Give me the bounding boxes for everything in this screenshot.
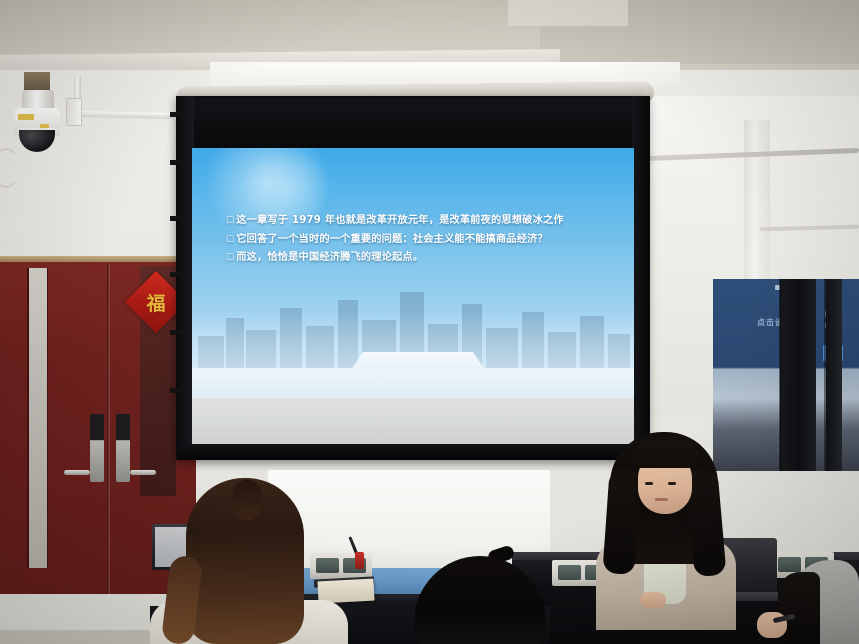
projection-screen-bottom-bar xyxy=(178,444,646,460)
mic-button-pad-a[interactable] xyxy=(316,558,339,573)
wall-junction-box xyxy=(66,98,82,126)
presenter-eye-left xyxy=(645,482,653,485)
camera-label-sticker xyxy=(18,114,34,120)
bullet-square-icon: □ xyxy=(226,231,234,249)
door-lock-left[interactable] xyxy=(90,414,104,482)
projection-screen-top-masking xyxy=(178,99,646,151)
classroom-photo-scene: 福 xyxy=(0,0,859,644)
screen-bracket-5 xyxy=(170,330,186,335)
fu-character: 福 xyxy=(134,280,178,324)
student-left-hair-part xyxy=(232,480,262,520)
slide-bottom-band xyxy=(192,368,634,398)
wall-display-dark-column-2 xyxy=(826,279,842,471)
screen-bracket-4 xyxy=(170,272,186,277)
bullet-square-icon: □ xyxy=(226,249,234,267)
slide-bullet-item: □ 它回答了一个当时的一个重要的问题：社会主义能不能搞商品经济？ xyxy=(226,231,608,249)
wall-display-dark-column xyxy=(780,279,816,471)
slide-bullet-item: □ 而这，恰恰是中国经济腾飞的理论起点。 xyxy=(226,249,608,267)
mic-button-pad-c[interactable] xyxy=(558,565,581,580)
wall-display-seam-2 xyxy=(824,279,826,471)
mic-button-pad-e[interactable] xyxy=(778,557,801,572)
mic-base-left xyxy=(355,552,364,569)
door-seam xyxy=(107,264,110,594)
presenter-mouth xyxy=(655,498,668,501)
presenter-hand xyxy=(640,592,666,608)
projection-screen-surface: □ 这一章写于 1979 年也就是改革开放元年，是改革前夜的思想破冰之作 □ 它… xyxy=(192,148,634,444)
projected-slide: □ 这一章写于 1979 年也就是改革开放元年，是改革前夜的思想破冰之作 □ 它… xyxy=(192,148,634,398)
door-handle-right[interactable] xyxy=(130,470,156,475)
projection-screen-right-masking xyxy=(632,96,650,456)
door-lock-right[interactable] xyxy=(116,414,130,482)
screen-bracket-6 xyxy=(170,388,186,393)
slide-bullet-text: 这一章写于 1979 年也就是改革开放元年，是改革前夜的思想破冰之作 xyxy=(236,212,608,230)
ceiling-notch xyxy=(508,0,628,26)
slide-bullet-list: □ 这一章写于 1979 年也就是改革开放元年，是改革前夜的思想破冰之作 □ 它… xyxy=(226,212,608,268)
slide-podium-shape xyxy=(351,352,485,370)
door-handle-left[interactable] xyxy=(64,470,90,475)
screen-blank-area xyxy=(192,398,634,444)
screen-bracket-1 xyxy=(170,112,186,117)
slide-bullet-text: 而这，恰恰是中国经济腾飞的理论起点。 xyxy=(236,249,608,267)
door-glass-panel-left xyxy=(27,268,48,568)
screen-bracket-3 xyxy=(170,216,186,221)
screen-bracket-2 xyxy=(170,160,186,165)
presenter-fringe xyxy=(632,440,698,468)
slide-bullet-item: □ 这一章写于 1979 年也就是改革开放元年，是改革前夜的思想破冰之作 xyxy=(226,212,608,230)
wall-display-seam xyxy=(779,279,781,471)
presenter-eye-right xyxy=(668,482,676,485)
slide-bullet-text: 它回答了一个当时的一个重要的问题：社会主义能不能搞商品经济？ xyxy=(236,231,608,249)
bullet-square-icon: □ xyxy=(226,212,234,230)
